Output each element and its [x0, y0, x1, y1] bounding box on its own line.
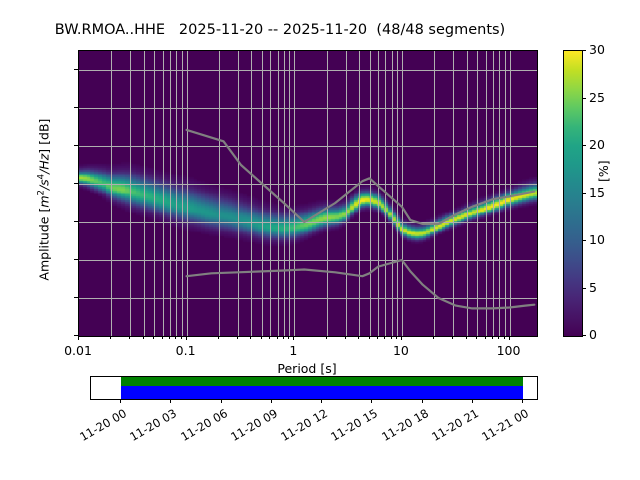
page-title: BW.RMOA..HHE 2025-11-20 -- 2025-11-20 (4…: [0, 22, 560, 38]
timeline-tick-label: 11-21 00: [470, 406, 531, 449]
timeline-tick: [472, 399, 473, 403]
timeline-tick-label: 11-20 03: [119, 406, 180, 449]
colorbar-tick-label: 15: [589, 185, 605, 200]
x-tick-minor: [326, 336, 327, 339]
x-tick-minor: [110, 336, 111, 339]
x-tick-minor: [283, 336, 284, 339]
x-tick-minor: [466, 336, 467, 339]
noise-model-lines: [79, 51, 537, 336]
colorbar-tick-label: 10: [589, 232, 605, 247]
x-tick-minor: [175, 336, 176, 339]
x-tick-label: 100: [479, 343, 539, 358]
timeline-tick: [321, 399, 322, 403]
x-tick-minor: [498, 336, 499, 339]
x-tick-minor: [143, 336, 144, 339]
low-noise-model-line: [187, 260, 535, 308]
x-tick-minor: [153, 336, 154, 339]
timeline-tick-label: 11-20 21: [420, 406, 481, 449]
x-tick-label: 0.01: [48, 343, 108, 358]
x-tick-label: 10: [371, 343, 431, 358]
data-coverage-bar: [121, 377, 523, 386]
x-tick-minor: [218, 336, 219, 339]
y-tick: [74, 259, 78, 260]
timeline-tick-label: 11-20 15: [320, 406, 381, 449]
ppsd-plot-area[interactable]: [78, 50, 538, 337]
colorbar-tick: [582, 335, 586, 336]
y-tick: [74, 145, 78, 146]
x-tick-minor: [269, 336, 270, 339]
x-tick-minor: [129, 336, 130, 339]
x-tick-minor: [237, 336, 238, 339]
timeline-tick: [522, 399, 523, 403]
timeline-tick-label: 11-20 12: [269, 406, 330, 449]
x-tick-minor: [288, 336, 289, 339]
timeline-tick: [371, 399, 372, 403]
timeline-tick: [422, 399, 423, 403]
colorbar-tick: [582, 193, 586, 194]
y-axis-label: Amplitude [m2/s4/Hz] [dB]: [36, 60, 51, 340]
x-axis-label: Period [s]: [78, 361, 536, 376]
ppsd-figure: BW.RMOA..HHE 2025-11-20 -- 2025-11-20 (4…: [0, 0, 640, 480]
colorbar-tick-label: 5: [589, 280, 597, 295]
colorbar[interactable]: [563, 50, 583, 337]
y-tick: [74, 69, 78, 70]
x-tick-major: [293, 336, 294, 340]
x-tick-minor: [358, 336, 359, 339]
y-tick: [74, 221, 78, 222]
x-tick-minor: [433, 336, 434, 339]
colorbar-tick: [582, 240, 586, 241]
colorbar-tick: [582, 98, 586, 99]
x-tick-minor: [377, 336, 378, 339]
x-tick-major: [509, 336, 510, 340]
x-tick-minor: [181, 336, 182, 339]
colorbar-tick-label: 0: [589, 327, 597, 342]
x-tick-minor: [277, 336, 278, 339]
x-tick-major: [186, 336, 187, 340]
timeline-tick-label: 11-20 06: [169, 406, 230, 449]
colorbar-tick-label: 25: [589, 90, 605, 105]
colorbar-tick: [582, 145, 586, 146]
x-tick-major: [401, 336, 402, 340]
timeline-tick: [221, 399, 222, 403]
x-tick-minor: [485, 336, 486, 339]
timeline-tick-label: 11-20 18: [370, 406, 431, 449]
x-tick-minor: [391, 336, 392, 339]
colorbar-label: [%]: [596, 142, 611, 182]
x-tick-minor: [345, 336, 346, 339]
y-tick: [74, 107, 78, 108]
timeline-plot-area[interactable]: [90, 376, 538, 400]
x-tick-minor: [492, 336, 493, 339]
x-tick-minor: [452, 336, 453, 339]
timeline-tick: [120, 399, 121, 403]
timeline-tick: [271, 399, 272, 403]
x-tick-minor: [169, 336, 170, 339]
x-tick-minor: [384, 336, 385, 339]
x-tick-minor: [504, 336, 505, 339]
x-tick-minor: [396, 336, 397, 339]
x-tick-minor: [261, 336, 262, 339]
x-tick-minor: [369, 336, 370, 339]
y-tick: [74, 297, 78, 298]
timeline-tick-label: 11-20 09: [219, 406, 280, 449]
y-tick: [74, 183, 78, 184]
x-tick-major: [78, 336, 79, 340]
x-tick-minor: [162, 336, 163, 339]
colorbar-tick: [582, 288, 586, 289]
psd-segment-bar: [121, 386, 523, 399]
timeline-tick: [170, 399, 171, 403]
x-tick-label: 1: [263, 343, 323, 358]
timeline-tick-label: 11-20 00: [68, 406, 129, 449]
x-tick-minor: [250, 336, 251, 339]
colorbar-tick-label: 30: [589, 42, 605, 57]
high-noise-model-line: [187, 130, 535, 224]
x-tick-label: 0.1: [156, 343, 216, 358]
x-tick-minor: [476, 336, 477, 339]
colorbar-tick: [582, 50, 586, 51]
